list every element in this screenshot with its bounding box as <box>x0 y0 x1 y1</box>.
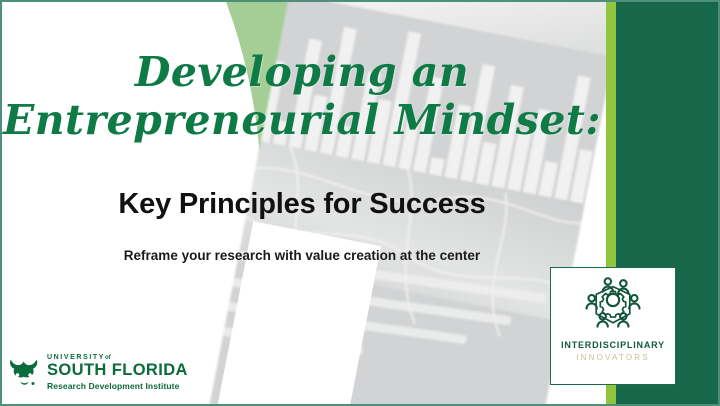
usf-logo-lockup: UNIVERSITYof SOUTH FLORIDA Research Deve… <box>10 354 188 390</box>
usf-line-unit: Research Development Institute <box>47 382 188 391</box>
page-subtitle: Key Principles for Success <box>2 188 602 221</box>
ii-logo-subtitle: INNOVATORS <box>576 353 650 362</box>
usf-line-south-florida: SOUTH FLORIDA <box>47 362 188 379</box>
script-title-line-2: Entrepreneurial Mindset: <box>2 96 602 144</box>
usf-logo-text: UNIVERSITYof SOUTH FLORIDA Research Deve… <box>47 354 188 390</box>
usf-bull-icon <box>10 355 40 389</box>
slide-canvas: Developing an Entrepreneurial Mindset: K… <box>0 0 720 406</box>
script-title-line-1: Developing an <box>2 48 602 96</box>
usf-line-university: UNIVERSITYof <box>47 354 188 361</box>
page-title-script: Developing an Entrepreneurial Mindset: <box>2 48 602 144</box>
gear-with-people-network-icon <box>580 275 646 337</box>
interdisciplinary-innovators-logo-card: INTERDISCIPLINARY INNOVATORS <box>550 267 676 385</box>
ii-logo-title: INTERDISCIPLINARY <box>561 340 665 350</box>
usf-university-word: UNIVERSITY <box>47 354 105 361</box>
page-tagline: Reframe your research with value creatio… <box>2 248 602 263</box>
